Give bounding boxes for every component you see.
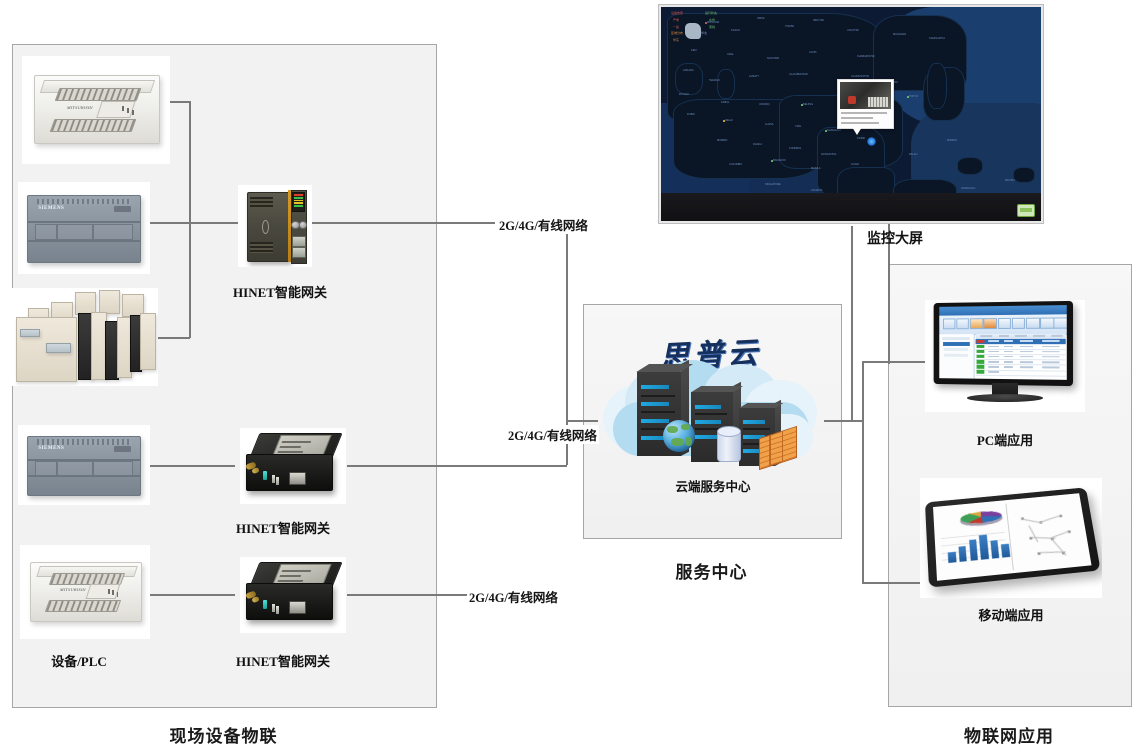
device-hinet-gateway-box-2	[240, 557, 346, 633]
popup-device-photo	[840, 82, 891, 109]
screen-bezel: 设备告警 严重 一般 运行状态 在线 离线 区域分布 华东 华北 MOSCOW …	[658, 4, 1044, 224]
link-plc5-to-gateway3	[150, 594, 235, 596]
label-device-plc: 设备/PLC	[19, 651, 139, 670]
device-mitsubishi-plc-1: MITSUBISHI	[22, 56, 170, 164]
network-trunk-vertical	[566, 222, 568, 420]
legend-status-item-1: 离线	[709, 25, 715, 29]
monitor-wall-drop-line	[851, 226, 853, 421]
link-cloud-to-apps-trunk	[824, 420, 864, 422]
trunk-vertical-upper	[189, 101, 191, 226]
legend-region-item-0: 华东	[673, 38, 679, 42]
caption-apps-zone: 物联网应用	[888, 722, 1130, 747]
device-hinet-gateway-box-1	[240, 428, 346, 504]
label-monitoring-wall: 监控大屏	[810, 228, 980, 248]
world-map-canvas: 设备告警 严重 一般 运行状态 在线 离线 区域分布 华东 华北 MOSCOW …	[661, 7, 1041, 221]
caption-service-zone: 服务中心	[583, 558, 840, 583]
legend-region-shape	[685, 23, 701, 39]
label-hinet-gateway-mid: HINET智能网关	[193, 518, 373, 537]
device-siemens-plc-1: SIEMENS	[18, 182, 150, 274]
monitoring-wall-display: 设备告警 严重 一般 运行状态 在线 离线 区域分布 华东 华北 MOSCOW …	[658, 4, 1044, 224]
link-plc4-to-gateway2	[150, 465, 235, 467]
map-device-popup[interactable]	[837, 79, 894, 129]
cloud-service-graphic: 思普云 云端服务中心	[597, 330, 829, 500]
label-hinet-gateway-bottom: HINET智能网关	[193, 651, 373, 670]
label-cloud-service-center: 云端服务中心	[597, 476, 829, 495]
apps-distribution-trunk	[862, 361, 864, 583]
device-controller-rack-cluster	[10, 288, 158, 386]
device-pc-monitor	[925, 300, 1085, 412]
network-label-mid: 2G/4G/有线网络	[506, 425, 599, 444]
legend-alarm-item-0: 严重	[673, 18, 679, 22]
link-gateway3-to-network-bottom	[347, 594, 467, 596]
link-gateway1-to-network-top	[310, 222, 495, 224]
pc-app-screen	[939, 305, 1067, 380]
network-label-top: 2G/4G/有线网络	[497, 215, 590, 234]
legend-region-title: 区域分布	[671, 31, 683, 35]
legend-status-title: 运行状态	[705, 11, 717, 15]
caption-field-zone: 现场设备物联	[12, 722, 435, 747]
legend-region-item-1: 华北	[701, 31, 707, 35]
device-mitsubishi-plc-2: MITSUBISHI	[20, 545, 150, 639]
network-label-bottom: 2G/4G/有线网络	[467, 587, 560, 606]
label-pc-application: PC端应用	[925, 430, 1085, 449]
trunk-vertical-lower	[189, 222, 191, 338]
screen-power-indicator-icon	[1017, 204, 1035, 217]
link-gateway2-to-network-mid	[347, 465, 567, 467]
screen-lower-bar	[661, 193, 1041, 221]
legend-alarm-item-1: 一般	[673, 25, 679, 29]
map-location-pin[interactable]	[867, 137, 876, 146]
database-icon	[717, 430, 741, 462]
label-mobile-application: 移动端应用	[920, 605, 1102, 624]
globe-icon	[663, 420, 695, 452]
device-hinet-gateway-din	[238, 185, 312, 267]
link-plc2-to-gateway	[150, 222, 238, 224]
pie-chart-graphic	[960, 510, 1005, 525]
device-tablet	[920, 478, 1102, 598]
label-hinet-gateway-top: HINET智能网关	[190, 282, 370, 301]
device-siemens-plc-2: SIEMENS	[18, 425, 150, 505]
link-plc1-to-trunk	[168, 101, 190, 103]
mobile-app-screen	[934, 494, 1092, 581]
legend-alarm-title: 设备告警	[671, 11, 683, 15]
link-network-to-cloud	[566, 420, 598, 422]
